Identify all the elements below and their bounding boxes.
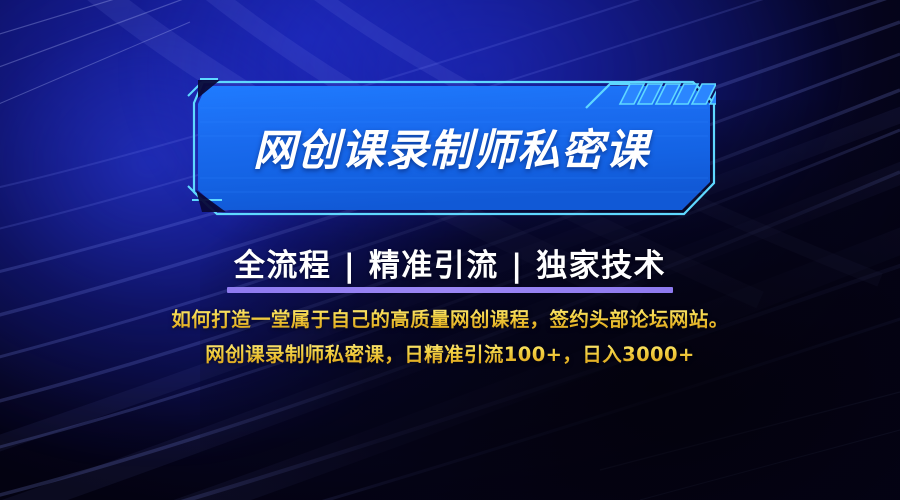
description-line-2: 网创课录制师私密课，日精准引流100+，日入3000+ — [0, 338, 900, 371]
description-block: 如何打造一堂属于自己的高质量网创课程，签约头部论坛网站。 网创课录制师私密课，日… — [0, 303, 900, 371]
banner-title-text: 网创课录制师私密课 — [186, 78, 716, 216]
promo-banner-stage: 网创课录制师私密课 全流程 | 精准引流 | 独家技术 全流程 | 精准引流 |… — [0, 0, 900, 500]
title-banner: 网创课录制师私密课 — [186, 78, 716, 216]
description-line-1: 如何打造一堂属于自己的高质量网创课程，签约头部论坛网站。 — [0, 303, 900, 336]
subtitle-text: 全流程 | 精准引流 | 独家技术 — [230, 240, 670, 293]
subtitle-block: 全流程 | 精准引流 | 独家技术 — [0, 240, 900, 293]
